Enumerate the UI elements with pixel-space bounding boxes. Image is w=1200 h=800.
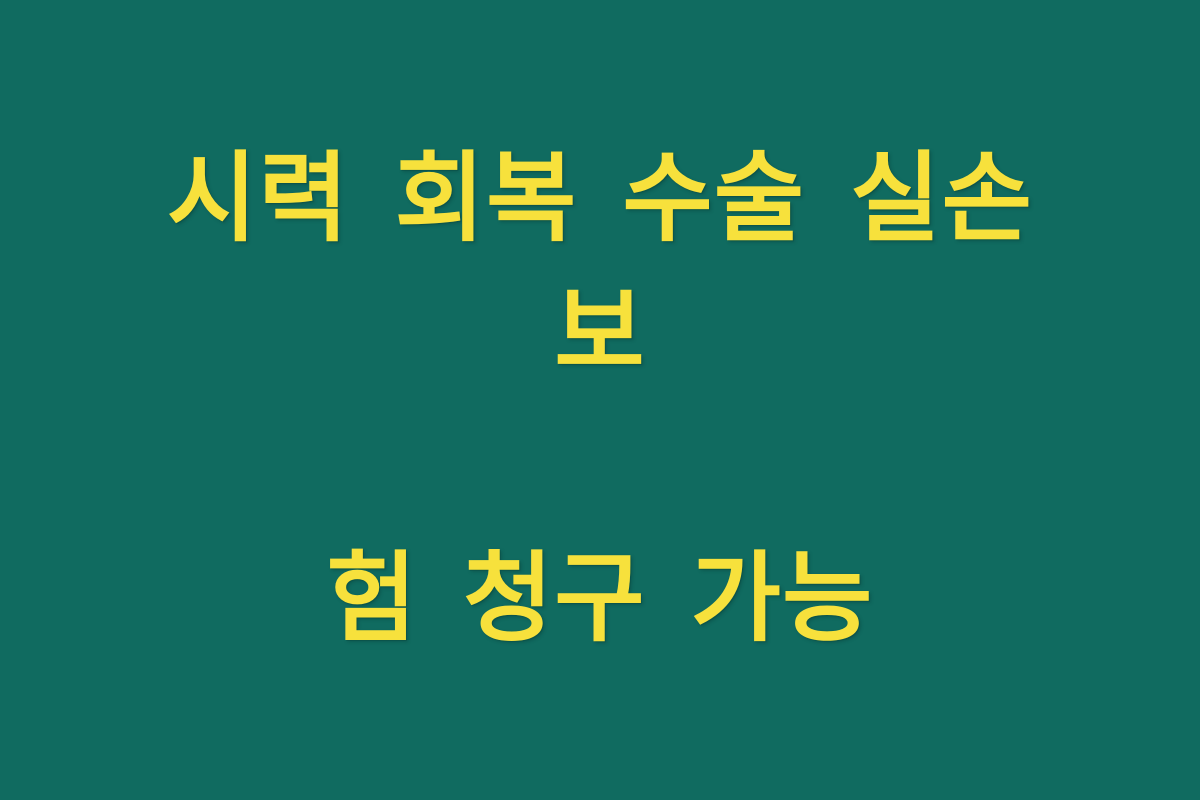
text-banner: 시력 회복 수술 실손 보 험 청구 가능 <box>0 0 1200 800</box>
headline-line-1: 시력 회복 수술 실손 보 <box>100 133 1100 400</box>
headline-text: 시력 회복 수술 실손 보 험 청구 가능 <box>100 0 1100 800</box>
headline-line-2: 험 청구 가능 <box>100 533 1100 666</box>
